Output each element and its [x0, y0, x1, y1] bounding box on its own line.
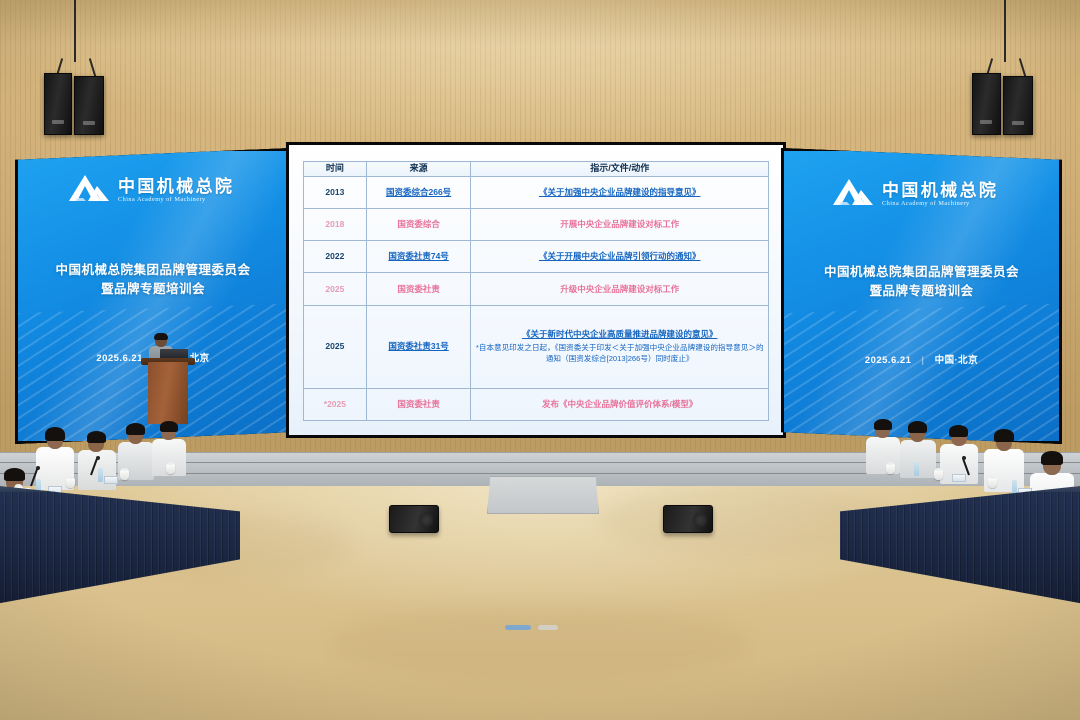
- slide-title-line-1: 中国机械总院集团品牌管理委员会: [784, 263, 1059, 282]
- cell-time: 2025: [304, 305, 367, 388]
- slide-date-separator: |: [922, 355, 925, 366]
- table-row: 2022 国资委社责74号 《关于开展中央企业品牌引领行动的通知》: [304, 241, 769, 273]
- hanging-line-array-speaker-left: [36, 0, 116, 135]
- water-bottle: [914, 462, 919, 476]
- hanging-line-array-speaker-right: [962, 0, 1047, 135]
- table-row: 2018 国资委综合 开展中央企业品牌建设对标工作: [304, 208, 769, 240]
- slide-title-line-2: 暨品牌专题培训会: [784, 282, 1059, 301]
- slide-date-value: 2025.6.21: [865, 355, 912, 366]
- logo-left: 中国机械总院 China Academy of Machinery: [66, 173, 234, 208]
- stage-floor-monitor-left: [389, 505, 439, 533]
- slide-title-line-2: 暨品牌专题培训会: [18, 280, 288, 299]
- name-placard: [952, 474, 966, 482]
- attendee-hair: [4, 468, 25, 481]
- cell-action-footnote: *自本意见印发之日起，《国资委关于印发＜关于加强中央企业品牌建设的指导意见＞的通…: [473, 342, 766, 365]
- policy-timeline-table: 时间 来源 指示/文件/动作 2013 国资委综合266号 《关于加强中央企业品…: [303, 161, 769, 421]
- tea-cup: [166, 464, 175, 474]
- desk-microphone-head: [96, 456, 100, 460]
- table-row: 2013 国资委综合266号 《关于加强中央企业品牌建设的指导意见》: [304, 176, 769, 208]
- panel-face-right: 中国机械总院 China Academy of Machinery 中国机械总院…: [784, 151, 1059, 441]
- cell-source: 国资委社责: [366, 273, 471, 305]
- attendee-hair: [160, 421, 178, 432]
- cell-source: 国资委社责31号: [366, 305, 471, 388]
- cell-action: 《关于开展中央企业品牌引领行动的通知》: [471, 241, 769, 273]
- column-header-action: 指示/文件/动作: [471, 162, 769, 177]
- cell-source-text: 国资委社责74号: [388, 251, 448, 261]
- conference-room-scene: 中国机械总院 China Academy of Machinery 中国机械总院…: [0, 0, 1080, 720]
- cell-source-text: 国资委社责31号: [388, 341, 448, 351]
- slide-title-left: 中国机械总院集团品牌管理委员会 暨品牌专题培训会: [18, 261, 288, 300]
- speaker-podium: [148, 362, 188, 424]
- policy-timeline-slide: 时间 来源 指示/文件/动作 2013 国资委综合266号 《关于加强中央企业品…: [303, 161, 769, 421]
- led-panel-center[interactable]: 时间 来源 指示/文件/动作 2013 国资委综合266号 《关于加强中央企业品…: [286, 142, 786, 438]
- tea-cup: [886, 464, 895, 474]
- name-placard: [104, 476, 118, 484]
- table-body: 2013 国资委综合266号 《关于加强中央企业品牌建设的指导意见》 2018 …: [304, 176, 769, 420]
- slide-date-right: 2025.6.21 | 中国·北京: [784, 352, 1059, 366]
- cell-action-text: 《关于新时代中央企业高质量推进品牌建设的意见》: [522, 329, 718, 339]
- attendee-hair: [45, 427, 65, 441]
- slide-date-value: 2025.6.21: [96, 353, 143, 364]
- attendee-hair: [994, 429, 1014, 442]
- mountain-triangle-logo-icon: [66, 173, 112, 208]
- floor-item-grey: [538, 625, 558, 630]
- stage-floor-monitor-right: [663, 505, 713, 533]
- cell-action-text: 《关于加强中央企业品牌建设的指导意见》: [539, 187, 701, 197]
- cell-source: 国资委综合266号: [366, 176, 471, 208]
- cell-source: 国资委综合: [366, 208, 471, 240]
- column-header-time: 时间: [304, 162, 367, 177]
- desk-microphone-head: [962, 456, 966, 460]
- logo-chinese-name: 中国机械总院: [882, 182, 998, 199]
- tea-cup: [120, 470, 129, 480]
- table-header-row: 时间 来源 指示/文件/动作: [304, 162, 769, 177]
- logo-english-name: China Academy of Machinery: [118, 197, 234, 203]
- cell-time: 2018: [304, 208, 367, 240]
- slide-title-right: 中国机械总院集团品牌管理委员会 暨品牌专题培训会: [784, 263, 1059, 302]
- led-panel-right[interactable]: 中国机械总院 China Academy of Machinery 中国机械总院…: [781, 148, 1062, 444]
- cell-time: 2025: [304, 273, 367, 305]
- desk-microphone-head: [36, 466, 40, 470]
- cell-source: 国资委社责: [366, 388, 471, 420]
- cell-action-text: 《关于开展中央企业品牌引领行动的通知》: [539, 251, 701, 261]
- presenter-hair: [154, 333, 168, 340]
- water-bottle: [98, 468, 103, 482]
- attendee-hair: [874, 419, 892, 430]
- table-row: 2025 国资委社责31号 《关于新时代中央企业高质量推进品牌建设的意见》 *自…: [304, 305, 769, 388]
- table-row: *2025 国资委社责 发布《中央企业品牌价值评价体系/模型》: [304, 388, 769, 420]
- attendee-hair: [949, 425, 968, 437]
- floor-item-blue: [505, 625, 531, 630]
- column-header-source: 来源: [366, 162, 471, 177]
- panel-face-center: 时间 来源 指示/文件/动作 2013 国资委综合266号 《关于加强中央企业品…: [289, 145, 783, 435]
- cell-action: 《关于新时代中央企业高质量推进品牌建设的意见》 *自本意见印发之日起，《国资委关…: [471, 305, 769, 388]
- logo-chinese-name: 中国机械总院: [118, 178, 234, 195]
- slide-location-value: 中国·北京: [935, 355, 979, 366]
- ceiling-shadow: [0, 0, 1080, 46]
- cell-action: 升级中央企业品牌建设对标工作: [471, 273, 769, 305]
- logo-right: 中国机械总院 China Academy of Machinery: [830, 177, 998, 212]
- attendee-hair: [126, 423, 145, 435]
- cell-source-text: 国资委综合266号: [386, 187, 451, 197]
- attendee-hair: [87, 431, 106, 443]
- tea-cup: [66, 478, 75, 488]
- attendee-hair: [1041, 451, 1063, 465]
- cell-time: 2013: [304, 176, 367, 208]
- attendee-hair: [908, 421, 927, 433]
- tea-cup: [934, 470, 943, 480]
- mountain-triangle-logo-icon: [830, 177, 876, 212]
- cell-action: 《关于加强中央企业品牌建设的指导意见》: [471, 176, 769, 208]
- tea-cup: [988, 478, 997, 488]
- cell-time: *2025: [304, 388, 367, 420]
- cell-action: 发布《中央企业品牌价值评价体系/模型》: [471, 388, 769, 420]
- water-bottle: [1012, 480, 1017, 494]
- slide-title-line-1: 中国机械总院集团品牌管理委员会: [18, 261, 288, 280]
- logo-english-name: China Academy of Machinery: [882, 201, 998, 207]
- cell-action: 开展中央企业品牌建设对标工作: [471, 208, 769, 240]
- cell-time: 2022: [304, 241, 367, 273]
- cell-source: 国资委社责74号: [366, 241, 471, 273]
- stage-access-ramp: [487, 476, 599, 514]
- table-row: 2025 国资委社责 升级中央企业品牌建设对标工作: [304, 273, 769, 305]
